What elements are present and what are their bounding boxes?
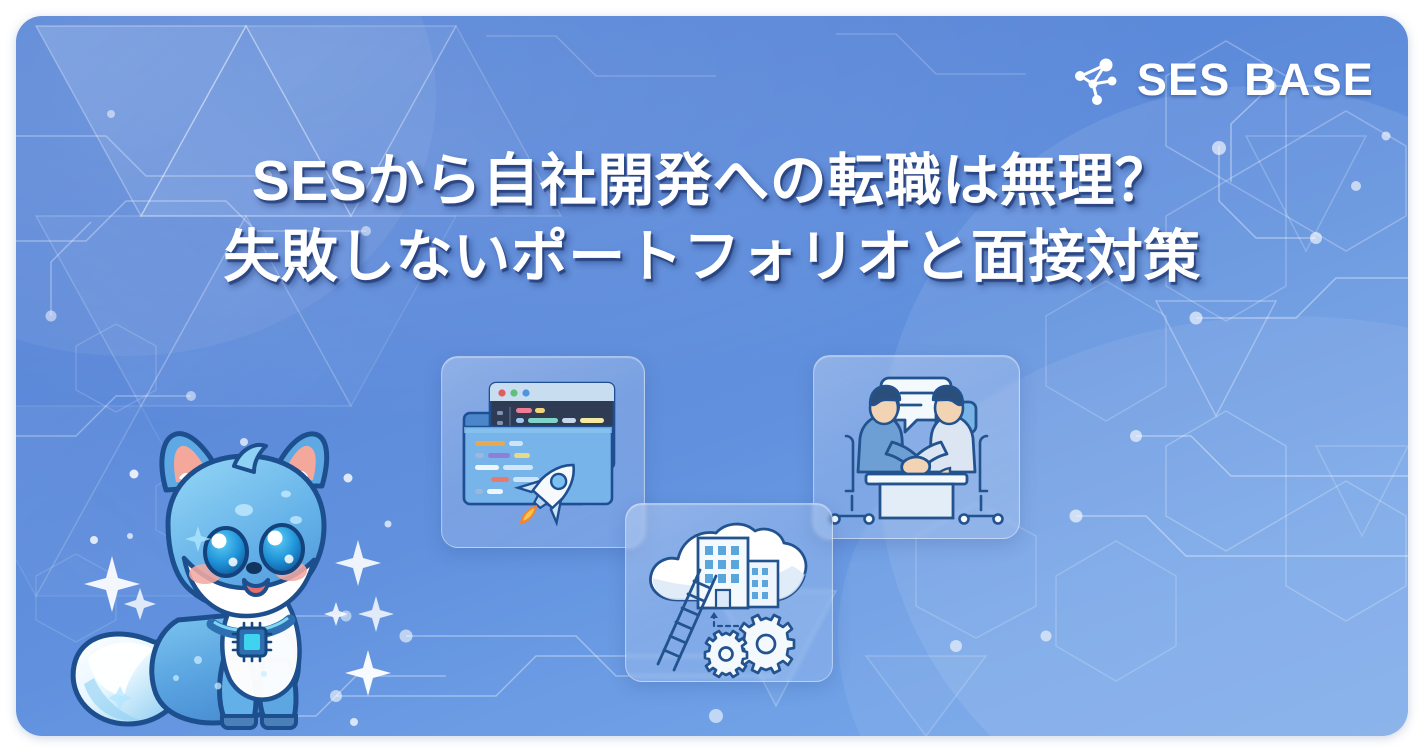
portfolio-code-card[interactable]	[441, 356, 645, 548]
interview-handshake-card[interactable]	[813, 355, 1020, 539]
fox-illustration	[58, 428, 408, 736]
career-cloud-card[interactable]	[625, 503, 833, 682]
logo-text: SES BASE	[1137, 54, 1374, 106]
logo[interactable]: SES BASE	[1071, 54, 1374, 106]
network-nodes-icon	[1071, 54, 1123, 106]
title-line-2: 失敗しないポートフォリオと面接対策	[16, 220, 1408, 296]
title-line-1: SESから自社開発への転職は無理？	[16, 144, 1408, 220]
cloud-building-ladder-gears-icon	[626, 504, 832, 681]
interview-handshake-speech-icon	[814, 356, 1019, 538]
banner: SES BASE SESから自社開発への転職は無理？ 失敗しないポートフォリオと…	[16, 16, 1408, 736]
page-title: SESから自社開発への転職は無理？ 失敗しないポートフォリオと面接対策	[16, 144, 1408, 296]
code-editor-folder-rocket-icon	[442, 357, 644, 547]
thumbnail-canvas: SES BASE SESから自社開発への転職は無理？ 失敗しないポートフォリオと…	[0, 0, 1424, 752]
blue-fox-mascot	[58, 428, 408, 736]
